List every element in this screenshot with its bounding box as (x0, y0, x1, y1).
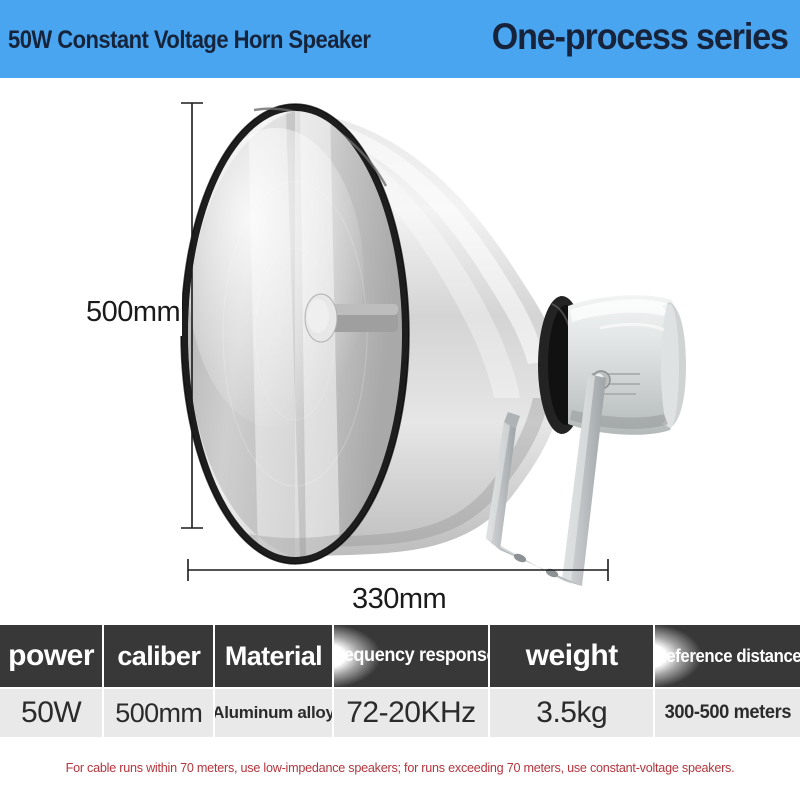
spec-header-material: Material (215, 625, 331, 687)
spec-value-weight-text: 3.5kg (536, 696, 607, 730)
spec-value-caliber: 500mm (104, 689, 213, 737)
specification-table: power caliber Material Frequency respons… (0, 625, 800, 743)
spec-value-caliber-text: 500mm (115, 698, 202, 729)
spec-header-row: power caliber Material Frequency respons… (0, 625, 800, 687)
spec-value-weight: 3.5kg (490, 689, 653, 737)
horn-speaker-illustration (0, 78, 800, 623)
spec-header-power-label: power (8, 639, 94, 673)
series-label: One-process series (492, 16, 788, 58)
height-dimension-label: 500mm (86, 296, 180, 329)
spec-header-reference-distance: Reference distance (655, 625, 800, 687)
spec-header-frequency-response-label: Frequency response (334, 645, 489, 667)
spec-value-frequency-response-text: 72-20KHz (346, 696, 475, 730)
spec-header-frequency-response: Frequency response (334, 625, 489, 687)
spec-value-reference-distance: 300-500 meters (655, 689, 800, 737)
spec-header-weight: weight (490, 625, 653, 687)
bracket-hole (513, 552, 528, 564)
spec-header-weight-label: weight (526, 639, 618, 673)
spec-header-material-label: Material (225, 641, 322, 672)
spec-value-row: 50W 500mm Aluminum alloy 72-20KHz 3.5kg … (0, 689, 800, 737)
spec-value-power-text: 50W (21, 696, 81, 730)
spec-value-power: 50W (0, 689, 102, 737)
footer-note: For cable runs within 70 meters, use low… (12, 760, 788, 775)
spec-header-power: power (0, 625, 102, 687)
width-dimension-label: 330mm (352, 583, 446, 616)
spec-value-material-text: Aluminum alloy (215, 703, 331, 723)
header-banner: 50W Constant Voltage Horn Speaker One-pr… (0, 0, 800, 78)
product-stage: 500mm 330mm (0, 78, 800, 623)
spec-header-caliber: caliber (104, 625, 213, 687)
spec-value-frequency-response: 72-20KHz (334, 689, 489, 737)
spec-value-material: Aluminum alloy (215, 689, 331, 737)
spec-header-caliber-label: caliber (117, 641, 200, 672)
spec-value-reference-distance-text: 300-500 meters (664, 702, 790, 724)
spec-header-reference-distance-label: Reference distance (655, 646, 800, 667)
product-title: 50W Constant Voltage Horn Speaker (8, 26, 370, 55)
